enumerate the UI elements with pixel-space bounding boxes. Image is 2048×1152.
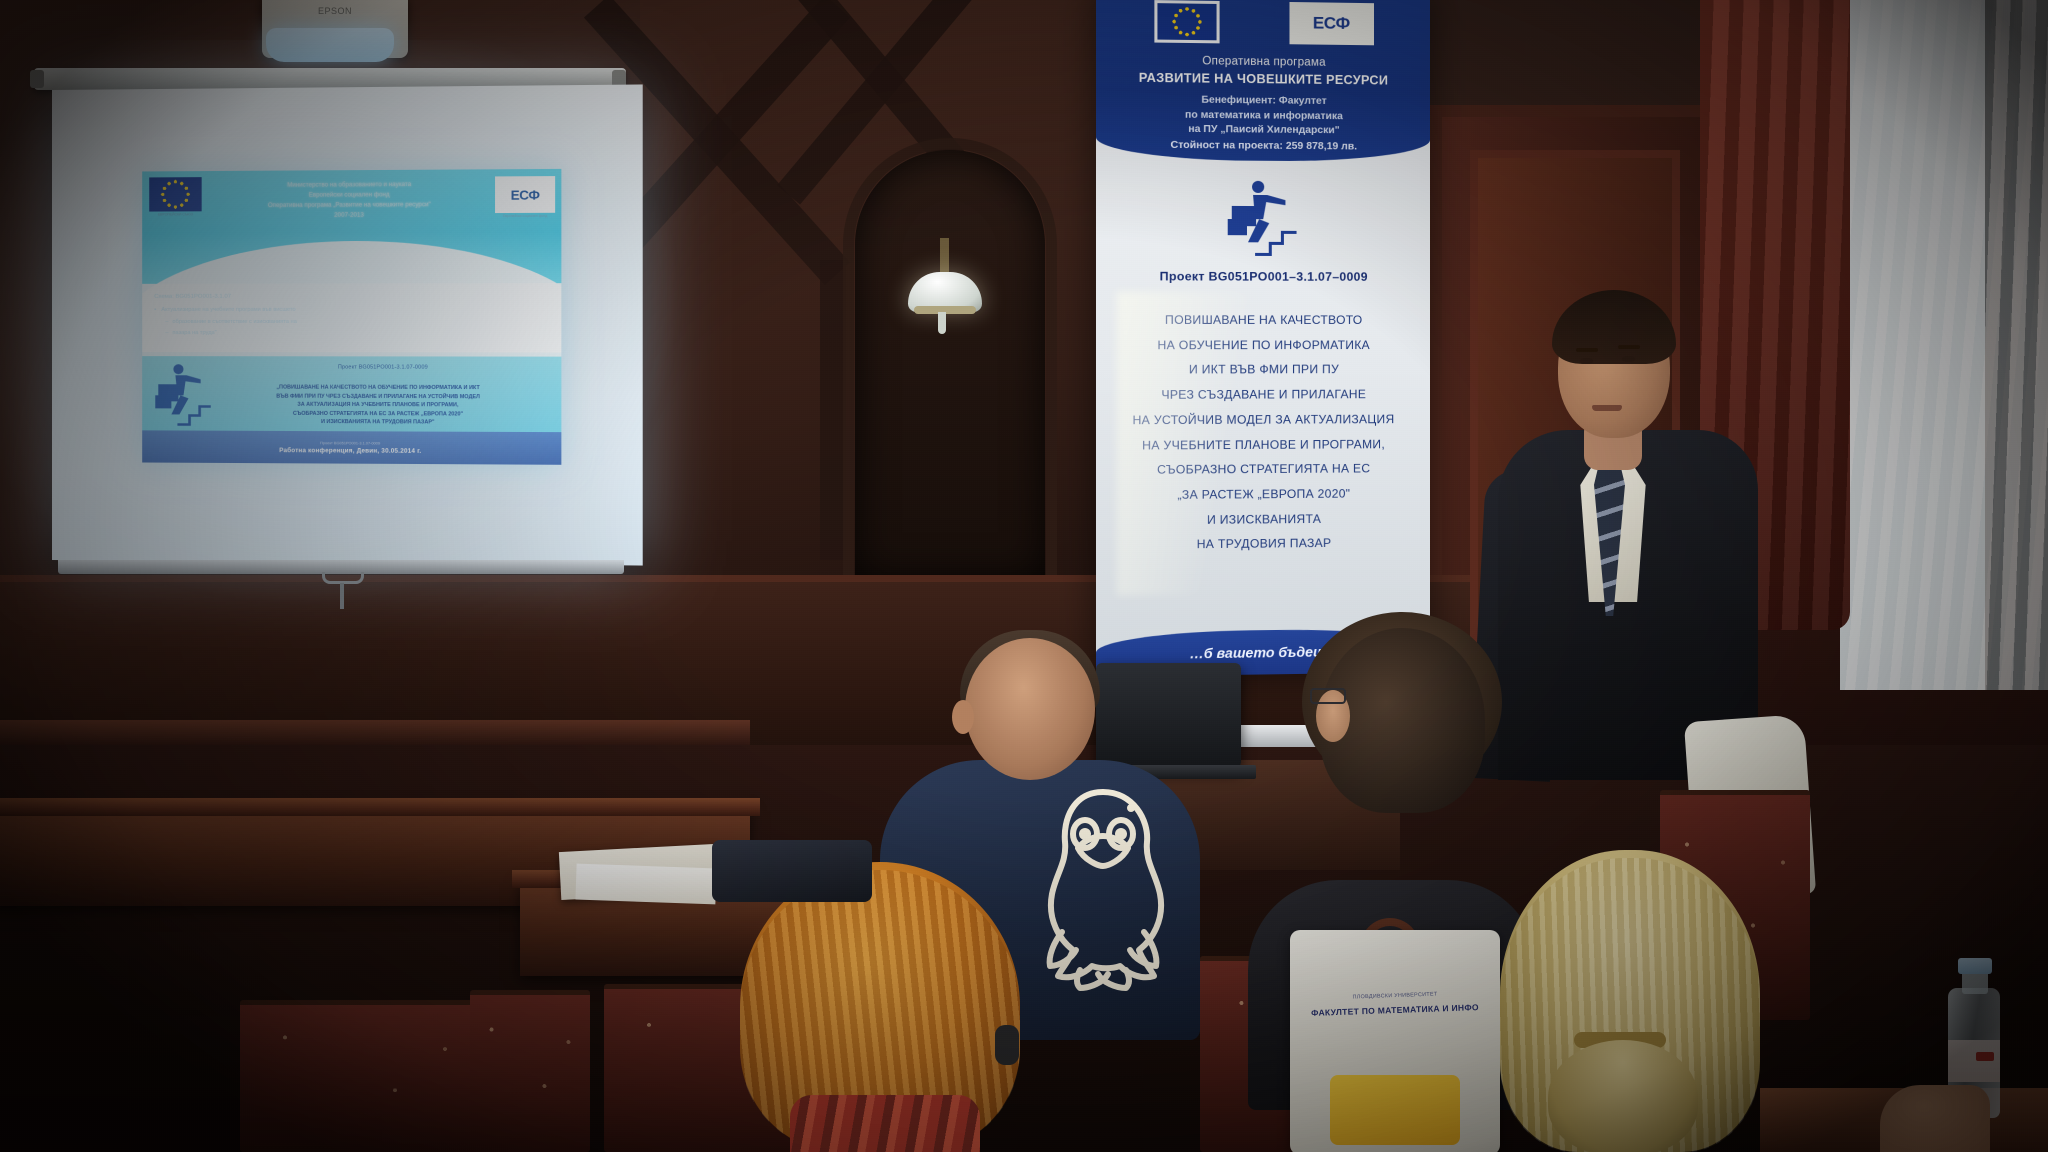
wall-niche-frame (843, 138, 1057, 588)
slide-project-id: Проект BG051PO001-3.1.07-0009 (221, 364, 547, 371)
banner-logo-row: ЕСФ (1096, 0, 1430, 52)
banner-project-line: НА ОБУЧЕНИЕ ПО ИНФОРМАТИКА (1096, 333, 1430, 358)
presenter-mouth (1592, 405, 1622, 411)
slide-project-title: „ПОВИШАВАНЕ НА КАЧЕСТВОТО НА ОБУЧЕНИЕ ПО… (205, 383, 553, 428)
linux-tux-penguin-icon (1018, 782, 1188, 992)
banner-project-line: ЧРЕЗ СЪЗДАВАНЕ И ПРИЛАГАНЕ (1096, 382, 1430, 408)
conference-room-photo: EPSON ЕВРОПЕЙСКИ СЪЮЗ ЕСФ Европейски соц… (0, 0, 2048, 1152)
screen-pull-stem (340, 583, 344, 609)
dark-drape-curtain (1985, 0, 2048, 690)
red-scarf (790, 1095, 980, 1152)
slide-footer-sub: Проект BG051PO001-3.1.07-0009 (320, 441, 380, 445)
chair[interactable] (470, 990, 590, 1152)
desk-top (0, 798, 760, 816)
presenter-eye (1580, 358, 1593, 364)
stage-edge (0, 720, 750, 746)
banner-beneficiary: Бенефициент: Факултет по математика и ин… (1096, 93, 1430, 140)
banner-project-description: ПОВИШАВАНЕ НА КАЧЕСТВОТО НА ОБУЧЕНИЕ ПО … (1096, 308, 1430, 559)
slide-project-title-line: И ИЗИСКВАНИЯТА НА ТРУДОВИЯ ПАЗАР" (205, 418, 553, 428)
banner-project-line: СЪОБРАЗНО СТРАТЕГИЯТА НА ЕС (1096, 456, 1430, 483)
seated-man-ear (952, 700, 974, 734)
bottle-cap[interactable] (1958, 958, 1992, 974)
slide-body-item: образование в съответствие с изискваният… (154, 317, 460, 327)
slide-header-text: Министерство на образованието и науката … (213, 180, 487, 221)
earpiece-icon (995, 1025, 1019, 1065)
slide-body-list: Актуализиране на учебните програми във в… (154, 306, 460, 339)
slide-bottom-strip: Проект BG051PO001-3.1.07-0009 Работна ко… (142, 430, 561, 464)
glasses-icon (1310, 688, 1346, 704)
eu-stars-icon (1171, 6, 1202, 37)
bottle-label-mark (1976, 1052, 1994, 1061)
lamp-drop (938, 312, 946, 334)
paper-sheet (575, 864, 716, 905)
eu-stars-icon (160, 179, 190, 209)
banner-project-line: „ЗА РАСТЕЖ „ЕВРОПА 2020" (1096, 481, 1430, 508)
slide-esf-caption: Европейски социален фонд (493, 214, 557, 218)
eu-flag-icon (149, 177, 201, 211)
banner-project-line: НА УСТОЙЧИВ МОДЕЛ ЗА АКТУАЛИЗАЦИЯ (1096, 407, 1430, 433)
banner-project-line: И ИЗИСКВАНИЯТА (1096, 506, 1430, 534)
banner-project-id: Проект BG051PO001–3.1.07–0009 (1096, 269, 1430, 284)
projection-screen: ЕВРОПЕЙСКИ СЪЮЗ ЕСФ Европейски социален … (52, 84, 643, 565)
banner-project-line: НА УЧЕБНИТЕ ПЛАНОВЕ И ПРОГРАМИ, (1096, 432, 1430, 459)
slide-body-title: Схема: BG051PO001-3.1.07 (154, 291, 460, 302)
eu-flag-icon (1154, 0, 1219, 43)
slide-header-line: 2007-2013 (213, 210, 487, 221)
projected-slide: ЕВРОПЕЙСКИ СЪЮЗ ЕСФ Европейски социален … (142, 169, 561, 465)
banner-beneficiary-line: на ПУ „Паисий Хилендарски" (1096, 122, 1430, 140)
banner-project-line: И ИКТ ВЪВ ФМИ ПРИ ПУ (1096, 357, 1430, 382)
esf-logo-icon: ЕСФ (1289, 2, 1374, 45)
banner-project-line: ПОВИШАВАНЕ НА КАЧЕСТВОТО (1096, 308, 1430, 333)
rollup-banner: ЕСФ Оперативна програма РАЗВИТИЕ НА ЧОВЕ… (1096, 0, 1430, 677)
chair[interactable] (240, 1000, 490, 1152)
slide-eu-caption: ЕВРОПЕЙСКИ СЪЮЗ (147, 212, 203, 216)
seated-man-head (965, 638, 1095, 780)
presenter-laptop[interactable] (1096, 663, 1241, 768)
running-person-stairs-icon (1228, 179, 1301, 260)
presenter-eyebrow (1618, 345, 1640, 349)
slide-body-item: Актуализиране на учебните програми във в… (154, 306, 460, 316)
projector-lens-icon (266, 28, 394, 62)
slide-footer-main: Работна конференция, Девин, 30.05.2014 г… (279, 447, 421, 455)
slide-body: Схема: BG051PO001-3.1.07 Актуализиране н… (154, 291, 460, 340)
projector-brand-label: EPSON (262, 6, 408, 16)
presenter-eye (1622, 356, 1635, 362)
bottle-label (1948, 1040, 2000, 1082)
ponytail (1548, 1040, 1698, 1152)
fmi-bag-yellow-item (1330, 1075, 1460, 1145)
dark-laptop-bag (712, 840, 872, 902)
presenter-eyebrow (1576, 348, 1598, 352)
banner-project-line: НА ТРУДОВИЯ ПАЗАР (1096, 530, 1430, 558)
slide-body-item: пазара на труда" (154, 329, 460, 339)
screen-roller-cap (30, 70, 44, 88)
esf-logo-icon: ЕСФ (495, 176, 555, 213)
attendee-hand (1880, 1085, 1990, 1152)
